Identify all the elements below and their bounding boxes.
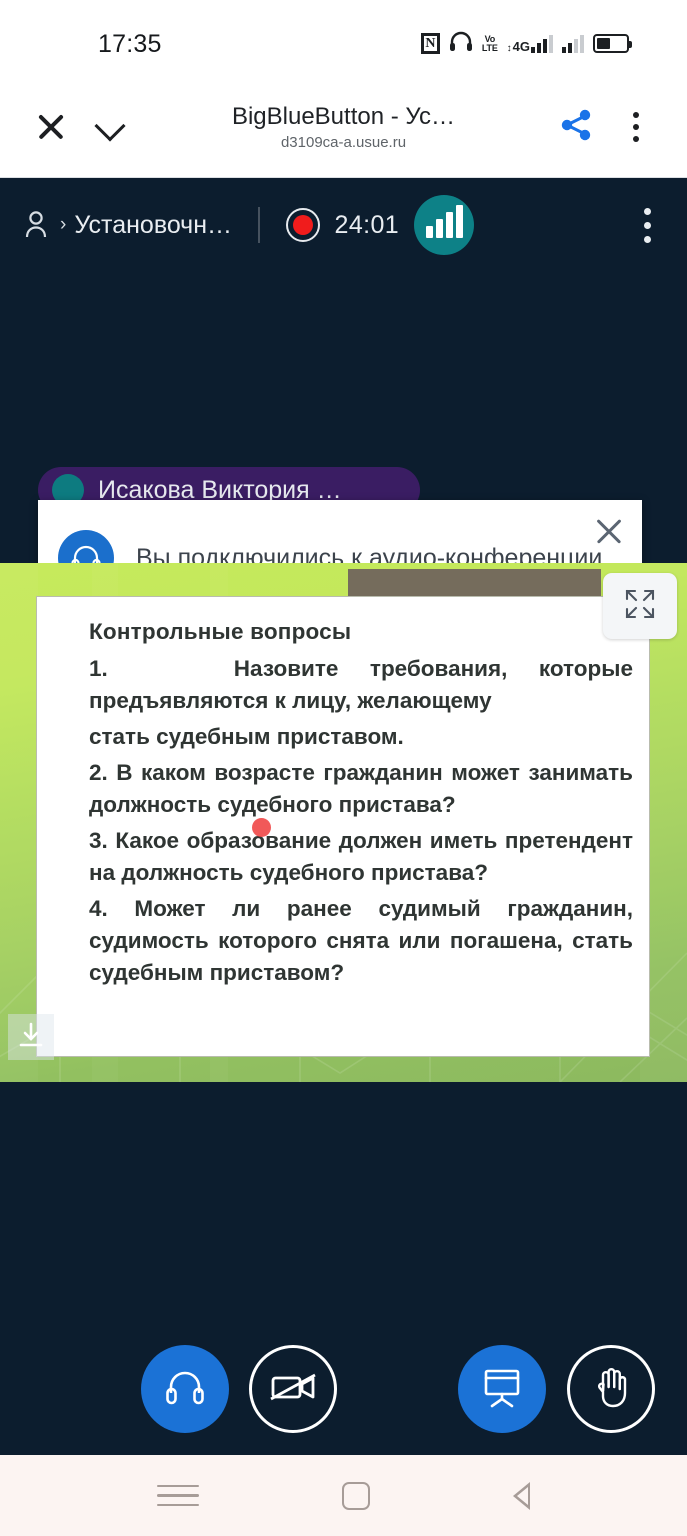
slide-question-4: 4. Может ли ранее судимый гражданин, суд…	[89, 893, 633, 989]
header-divider	[258, 207, 260, 243]
meeting-title-block[interactable]: › Установочн…	[22, 208, 232, 242]
android-nav-bar	[0, 1455, 687, 1536]
more-options-icon	[619, 112, 653, 142]
browser-toolbar: BigBlueButton - Ус… d3109ca-a.usue.ru	[0, 76, 687, 178]
slide-heading: Контрольные вопросы	[89, 619, 633, 645]
present-button[interactable]	[458, 1345, 546, 1433]
meeting-options-button[interactable]	[629, 208, 665, 243]
meeting-action-bar	[0, 1341, 687, 1437]
page-title: BigBlueButton - Ус…	[142, 103, 545, 131]
browser-title-block[interactable]: BigBlueButton - Ус… d3109ca-a.usue.ru	[138, 103, 549, 151]
share-button[interactable]	[549, 98, 607, 156]
fullscreen-button[interactable]	[603, 573, 677, 639]
android-status-bar: 17:35 N VoLTE ↕ 4G	[0, 0, 687, 76]
audio-button[interactable]	[141, 1345, 229, 1433]
meeting-header: › Установочн… 24:01	[0, 178, 687, 272]
download-icon	[16, 1020, 46, 1055]
signal-bars	[531, 35, 553, 53]
presentation-slide[interactable]: Контрольные вопросы 1. Назовите требован…	[0, 563, 687, 1082]
headphones-icon	[449, 31, 473, 56]
slide-content-card: Контрольные вопросы 1. Назовите требован…	[36, 596, 650, 1057]
hand-icon	[590, 1365, 632, 1414]
fullscreen-icon	[623, 587, 657, 626]
slide-question-3: 3. Какое образование должен иметь претен…	[89, 825, 633, 889]
camera-off-icon	[268, 1367, 318, 1412]
sim2-signal-icon	[562, 35, 584, 53]
recording-indicator-icon[interactable]	[286, 208, 320, 242]
slide-question-1b: стать судебным приставом.	[89, 721, 633, 753]
battery-icon	[593, 34, 629, 53]
4g-signal-icon: ↕ 4G	[507, 35, 553, 53]
presentation-icon	[479, 1366, 525, 1413]
bigbluebutton-app: › Установочн… 24:01 Исакова Виктория … В…	[0, 178, 687, 1455]
video-button[interactable]	[249, 1345, 337, 1433]
close-icon	[36, 112, 66, 142]
volte-icon: VoLTE	[482, 35, 498, 53]
meeting-name: Установочн…	[74, 211, 232, 240]
recording-timer: 24:01	[335, 211, 400, 240]
users-icon	[22, 208, 56, 242]
close-tab-button[interactable]	[22, 98, 80, 156]
slide-question-2: 2. В каком возрасте гражданин может зани…	[89, 757, 633, 821]
chevron-down-icon	[96, 114, 122, 140]
nfc-icon: N	[421, 33, 440, 54]
recents-icon[interactable]	[157, 1485, 199, 1507]
presenter-cursor	[252, 818, 271, 837]
status-clock: 17:35	[98, 30, 162, 59]
raise-hand-button[interactable]	[567, 1345, 655, 1433]
home-icon[interactable]	[342, 1482, 370, 1510]
share-icon	[556, 105, 600, 149]
breadcrumb-chevron-icon: ›	[60, 214, 66, 236]
page-url: d3109ca-a.usue.ru	[142, 134, 545, 151]
slide-text-block: Контрольные вопросы 1. Назовите требован…	[37, 597, 649, 989]
back-icon[interactable]	[513, 1482, 530, 1510]
connection-status-button[interactable]	[414, 195, 474, 255]
download-presentation-button[interactable]	[8, 1014, 54, 1060]
collapse-button[interactable]	[80, 98, 138, 156]
slide-question-1a: 1. Назовите требования, которые предъявл…	[89, 653, 633, 717]
browser-menu-button[interactable]	[607, 98, 665, 156]
headset-icon	[162, 1367, 208, 1412]
status-icon-group: N VoLTE ↕ 4G	[421, 31, 629, 56]
close-icon[interactable]	[592, 514, 626, 548]
